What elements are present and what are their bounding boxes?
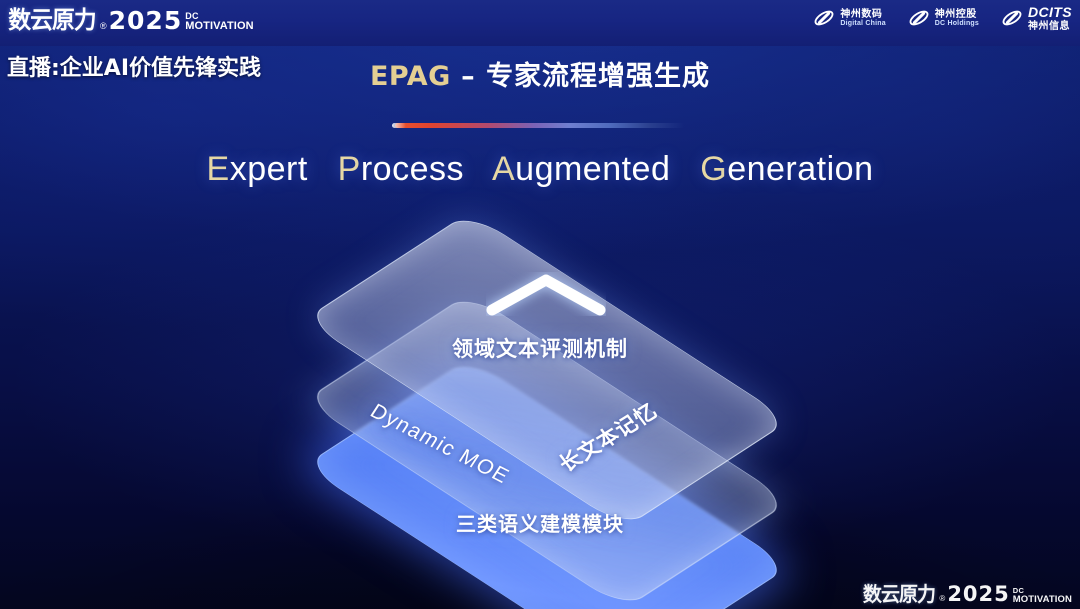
watermark-registered-mark: ® <box>939 593 945 605</box>
logo-dc-holdings: 神州控股 DC Holdings <box>908 7 979 29</box>
brand-dc-motivation: DC MOTIVATION <box>185 12 253 33</box>
diagram-label-bottom: 三类语义建模模块 <box>0 508 1080 537</box>
logo-label-cn: 神州信息 <box>1028 21 1072 32</box>
brand-logo-top-left: 数云原力 ® 2025 DC MOTIVATION <box>6 3 254 33</box>
watermark-year: 2025 <box>947 584 1009 605</box>
logo-label-cn: 神州数码 <box>840 9 885 20</box>
subtitle-expansion: Expert Process Augmented Generation <box>0 150 1080 189</box>
partner-logo-group: 神州数码 Digital China 神州控股 DC Holdings <box>813 5 1072 32</box>
watermark-dc-line2: MOTIVATION <box>1013 595 1072 605</box>
logo-label-cn: 神州控股 <box>935 9 979 20</box>
subtitle-word-generation: Generation <box>700 150 873 188</box>
logo-label-en: Digital China <box>840 20 885 28</box>
brand-dc-line2: MOTIVATION <box>185 21 253 32</box>
subtitle-word-augmented: Augmented <box>492 150 670 188</box>
logo-digital-china: 神州数码 Digital China <box>813 7 885 29</box>
slide-canvas: 数云原力 ® 2025 DC MOTIVATION 神州数码 Digital C… <box>0 0 1080 609</box>
subtitle-space <box>318 150 328 188</box>
subtitle-word-expert: Expert <box>207 150 308 188</box>
watermark-dc-motivation: DC MOTIVATION <box>1013 587 1072 605</box>
subtitle-space <box>680 150 690 188</box>
brand-registered-mark: ® <box>100 19 107 33</box>
chevron-up-icon <box>486 272 606 316</box>
watermark-name-cn: 数云原力 <box>863 583 935 605</box>
logo-dcits: DCITS 神州信息 <box>1001 5 1072 32</box>
page-title: EPAG – 专家流程增强生成 <box>0 54 1080 93</box>
brand-watermark-bottom-right: 数云原力 ® 2025 DC MOTIVATION <box>861 583 1072 605</box>
swirl-icon <box>813 7 835 29</box>
subtitle-word-process: Process <box>338 150 464 188</box>
title-chinese: 专家流程增强生成 <box>486 61 710 92</box>
swirl-icon <box>908 7 930 29</box>
brand-year: 2025 <box>109 8 183 33</box>
logo-label-en: DC Holdings <box>935 20 979 28</box>
subtitle-space <box>474 150 484 188</box>
diagram-label-top: 领域文本评测机制 <box>0 333 1080 363</box>
title-divider <box>395 123 685 128</box>
brand-name-cn: 数云原力 <box>8 7 95 33</box>
logo-label-en: DCITS <box>1028 5 1072 21</box>
title-dash: – <box>451 61 486 92</box>
swirl-icon <box>1001 7 1023 29</box>
title-acronym: EPAG <box>370 61 451 92</box>
